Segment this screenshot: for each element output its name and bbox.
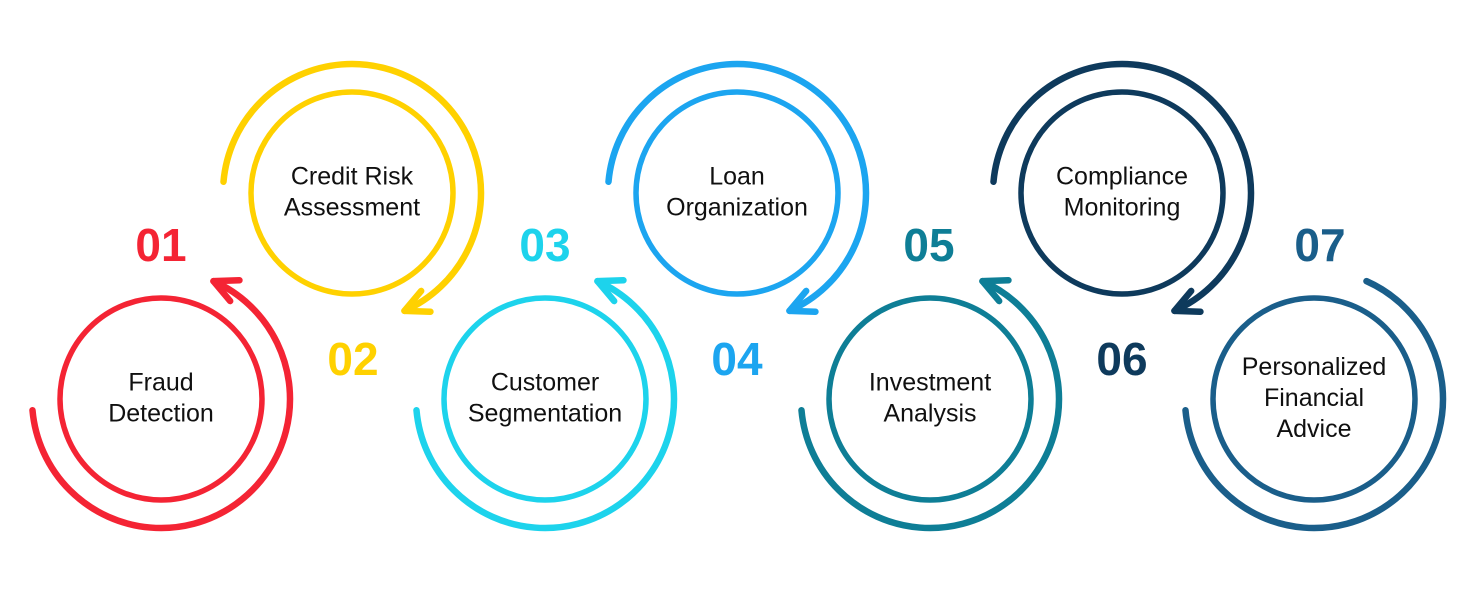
infographic-canvas: FraudDetectionCredit RiskAssessmentCusto… [0,0,1475,591]
step-number-05: 05 [903,219,954,271]
process-step[interactable]: Credit RiskAssessment [223,64,481,312]
step-number-04: 04 [711,333,763,385]
process-step[interactable]: FraudDetection [32,280,290,528]
step-number-06: 06 [1096,333,1147,385]
step-number-07: 07 [1294,219,1345,271]
process-step[interactable]: ComplianceMonitoring [993,64,1251,312]
process-step[interactable]: CustomerSegmentation [416,280,674,528]
process-step[interactable]: PersonalizedFinancialAdvice [1185,281,1443,528]
process-step[interactable]: LoanOrganization [608,64,866,312]
process-cycle-diagram: FraudDetectionCredit RiskAssessmentCusto… [0,0,1475,591]
process-step[interactable]: InvestmentAnalysis [801,280,1059,528]
step-number-03: 03 [519,219,570,271]
steps-group: FraudDetectionCredit RiskAssessmentCusto… [32,64,1443,528]
step-number-02: 02 [327,333,378,385]
step-number-01: 01 [135,219,186,271]
